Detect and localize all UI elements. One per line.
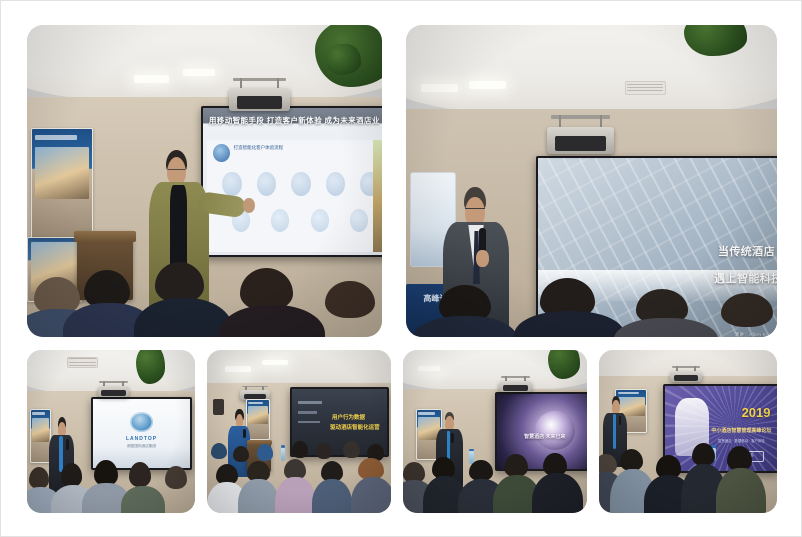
photo-top-right[interactable]: 当传统酒店 遇上智能科技 演讲：Allen Kong 高峰论坛 (406, 25, 777, 337)
slide-bullet (298, 411, 317, 414)
wall-poster (31, 128, 93, 242)
microphone-icon (451, 433, 454, 443)
audience-head (599, 454, 617, 474)
photo-bottom-4[interactable]: 2019 中小酒店智慧管理高峰论坛 智慧酒店 · 数据驱动 · 客户体验 立即报… (599, 350, 777, 513)
audience-head (721, 293, 773, 327)
air-vent (67, 357, 97, 368)
audience-shoulder (121, 486, 165, 513)
audience-shoulder (134, 298, 233, 337)
screen-highlight-line2: 驱动酒店智能化运营 (330, 423, 380, 431)
audience-head (211, 443, 228, 459)
speaker-hand (476, 250, 489, 267)
ceiling-projector (98, 381, 130, 399)
audience-head (61, 463, 83, 487)
hanging-plant-icon (136, 350, 165, 384)
ceiling-light (262, 360, 288, 366)
ceiling-light (183, 69, 215, 76)
screen-headline-line1: 当传统酒店 (718, 243, 775, 259)
audience-row (406, 268, 777, 337)
eyeglasses-icon (465, 208, 484, 214)
microphone-icon (619, 416, 622, 425)
conference-room-scene-3: LANDTOP 朗庭国际酒店集团 (27, 350, 195, 513)
audience-row (27, 243, 382, 337)
slide-bullet (298, 421, 321, 424)
ceiling-projector (229, 78, 289, 115)
audience-head (257, 444, 274, 460)
audience-shoulder (716, 468, 766, 513)
screen-headline: 用移动智能手段 打造客户新体验 成为未来酒店业 (209, 115, 380, 126)
conference-room-scene-6: 2019 中小酒店智慧管理高峰论坛 智慧酒店 · 数据驱动 · 客户体验 立即报… (599, 350, 777, 513)
audience-head (292, 441, 309, 457)
screen-logo-subtext: 朗庭国际酒店集团 (93, 444, 190, 449)
photo-bottom-2[interactable]: 用户行为数据 驱动酒店智能化运营 (207, 350, 391, 513)
audience-shoulder (614, 318, 718, 337)
audience-head (165, 466, 187, 490)
ceiling-light (134, 75, 170, 83)
hanging-plant-icon (325, 44, 361, 75)
microphone-icon (479, 228, 486, 253)
air-vent (625, 81, 666, 95)
slide-bullet (298, 401, 323, 404)
screen-highlight-line1: 用户行为数据 (332, 413, 365, 421)
screen-logo-icon (130, 412, 153, 433)
eyeglasses-icon (168, 169, 185, 176)
conference-room-scene-5: 智慧酒店 未来已来 (403, 350, 587, 513)
audience-head (727, 446, 752, 471)
photo-bottom-1[interactable]: LANDTOP 朗庭国际酒店集团 (27, 350, 195, 513)
photo-bottom-3[interactable]: 智慧酒店 未来已来 (403, 350, 587, 513)
audience-shoulder (532, 473, 584, 513)
photo-collage: 用移动智能手段 打造客户新体验 成为未来酒店业 打造智能化客户体验流程 (0, 0, 802, 537)
audience-head (129, 462, 151, 487)
screen-year: 2019 (742, 405, 771, 420)
microphone-icon (66, 439, 69, 450)
audience-shoulder (275, 477, 315, 513)
audience-shoulder (238, 479, 278, 513)
audience-head (233, 446, 250, 462)
audience-head (316, 443, 333, 459)
speaker-hand (243, 198, 255, 213)
conference-room-scene-1: 用移动智能手段 打造客户新体验 成为未来酒店业 打造智能化客户体验流程 (27, 25, 382, 337)
ceiling-light (418, 366, 440, 371)
ceiling-light (421, 84, 458, 91)
slide-photo-strip (373, 140, 382, 251)
screen-logo-text: LANDTOP (93, 436, 190, 442)
wall-speaker-icon (213, 399, 224, 415)
ceiling-projector (499, 376, 532, 394)
screen-headline: 智慧酒店 未来已来 (497, 433, 587, 440)
ceiling-light (469, 81, 506, 88)
audience-head (620, 449, 643, 471)
screen-headline: 中小酒店智慧管理高峰论坛 (710, 427, 773, 434)
audience-row (27, 451, 195, 513)
audience-row (599, 435, 777, 513)
audience-shoulder (351, 477, 391, 513)
audience-head (343, 441, 360, 457)
audience-shoulder (219, 305, 326, 337)
audience-head (692, 443, 715, 466)
conference-room-scene-2: 当传统酒店 遇上智能科技 演讲：Allen Kong 高峰论坛 (406, 25, 777, 337)
audience-head (94, 460, 118, 486)
audience-shoulder (514, 311, 625, 337)
microphone-icon (243, 429, 246, 438)
audience-row (403, 445, 587, 513)
conference-room-scene-4: 用户行为数据 驱动酒店智能化运营 (207, 350, 391, 513)
ceiling-light (225, 366, 251, 372)
photo-top-left[interactable]: 用移动智能手段 打造客户新体验 成为未来酒店业 打造智能化客户体验流程 (27, 25, 382, 337)
audience-shoulder (312, 479, 352, 513)
audience-head (504, 454, 528, 477)
ceiling-projector (670, 366, 702, 384)
audience-row (207, 438, 391, 513)
audience-shoulder (413, 316, 517, 337)
audience-head (325, 281, 375, 318)
ceiling-projector (547, 115, 614, 159)
